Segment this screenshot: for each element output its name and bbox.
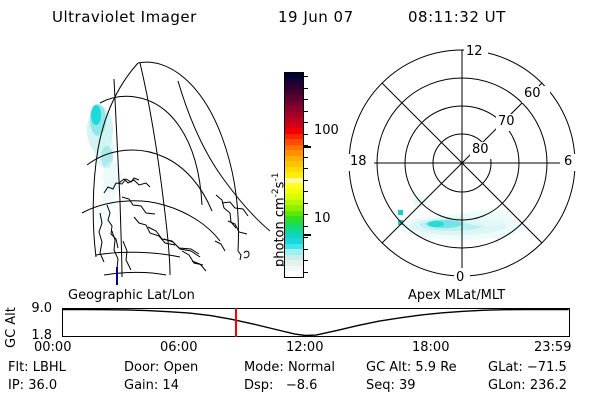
colorbar-exponent-2: -1 (271, 173, 281, 182)
polar-dial-image (336, 42, 594, 294)
timeline-x-tick-3: 18:00 (412, 340, 449, 355)
status-seq-value: 39 (399, 378, 416, 393)
instrument-title: Ultraviolet Imager (52, 8, 197, 26)
colorbar-tick-label-10: 10 (314, 211, 331, 226)
status-glon-value: 236.2 (530, 378, 567, 393)
mlat-label-70: 70 (498, 114, 515, 129)
status-ip-label: IP: (8, 378, 24, 393)
colorbar-gradient (284, 72, 304, 278)
status-door: Door: Open (124, 360, 198, 375)
status-ip-value: 36.0 (28, 378, 57, 393)
mlat-label-60: 60 (524, 86, 541, 101)
polar-dial-panel: 12 18 6 0 60 70 80 (336, 42, 594, 294)
status-glat-label: GLat: (488, 360, 523, 375)
mlat-label-80: 80 (472, 142, 489, 157)
observation-time: 08:11:32 UT (408, 8, 506, 26)
timeline-x-tick-2: 12:00 (286, 340, 323, 355)
mlt-label-6: 6 (564, 154, 572, 169)
timeline-plot-box[interactable] (62, 308, 570, 337)
status-dsp: Dsp: −8.6 (244, 378, 317, 393)
observation-date: 19 Jun 07 (278, 8, 354, 26)
status-gcalt-value: 5.9 Re (415, 360, 456, 375)
status-seq: Seq: 39 (366, 378, 416, 393)
mlt-label-12: 12 (466, 44, 483, 59)
status-mode-value: Normal (288, 360, 335, 375)
timeline-caption-left: Geographic Lat/Lon (68, 288, 195, 303)
status-mode-label: Mode: (244, 360, 284, 375)
status-flt-label: Flt: (8, 360, 29, 375)
colorbar-panel: photon cm-2s-1 100 10 (268, 55, 343, 295)
status-glon: GLon: 236.2 (488, 378, 567, 393)
status-door-value: Open (164, 360, 199, 375)
mlt-label-18: 18 (350, 154, 367, 169)
status-gain: Gain: 14 (124, 378, 179, 393)
status-gcalt: GC Alt: 5.9 Re (366, 360, 457, 375)
colorbar-ticks (304, 72, 312, 278)
mlt-label-0: 0 (456, 270, 464, 285)
status-footer: Flt: LBHL Door: Open Mode: Normal GC Alt… (0, 360, 600, 400)
timeline-x-tick-0: 00:00 (34, 340, 71, 355)
colorbar-exponent-1: -2 (271, 188, 281, 197)
polar-aurora-emission (398, 197, 524, 240)
timeline-caption-right: Apex MLat/MLT (408, 288, 505, 303)
orbit-timeline-panel: Geographic Lat/Lon Apex MLat/MLT GC Alt … (0, 288, 600, 354)
status-gain-value: 14 (162, 378, 179, 393)
status-seq-label: Seq: (366, 378, 395, 393)
status-gain-label: Gain: (124, 378, 158, 393)
status-glon-label: GLon: (488, 378, 526, 393)
altitude-curve (63, 309, 569, 336)
status-flt: Flt: LBHL (8, 360, 66, 375)
globe-image (60, 45, 275, 295)
globe-panel (60, 45, 275, 295)
header: Ultraviolet Imager 19 Jun 07 08:11:32 UT (0, 6, 600, 28)
timeline-y-tick-top: 9.0 (22, 301, 52, 316)
status-gcalt-label: GC Alt: (366, 360, 411, 375)
status-mode: Mode: Normal (244, 360, 335, 375)
ultraviolet-imager-screenshot: Ultraviolet Imager 19 Jun 07 08:11:32 UT (0, 0, 600, 400)
timeline-x-tick-1: 06:00 (160, 340, 197, 355)
timeline-current-time-marker[interactable] (235, 308, 237, 337)
status-dsp-value: −8.6 (286, 378, 318, 393)
status-door-label: Door: (124, 360, 159, 375)
timeline-x-tick-4: 23:59 (534, 340, 571, 355)
status-glat-value: −71.5 (527, 360, 567, 375)
status-ip: IP: 36.0 (8, 378, 57, 393)
status-flt-value: LBHL (33, 360, 66, 375)
status-glat: GLat: −71.5 (488, 360, 567, 375)
status-dsp-label: Dsp: (244, 378, 273, 393)
